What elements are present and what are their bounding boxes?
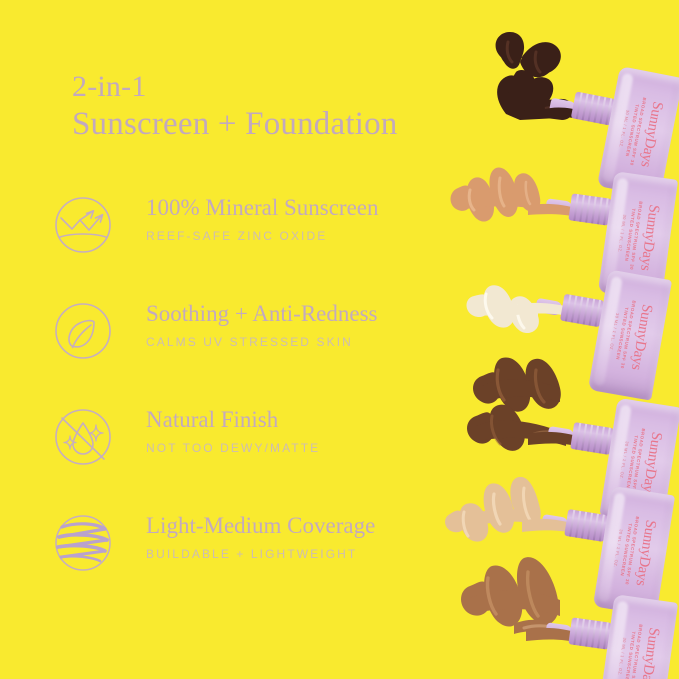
feature-item-mineral-sunscreen: 100% Mineral Sunscreen REEF-SAFE ZINC OX… (50, 188, 470, 294)
leaf-icon (50, 298, 116, 364)
product-feature-graphic: 2-in-1 Sunscreen + Foundation (0, 0, 679, 679)
feature-subtitle: BUILDABLE + LIGHTWEIGHT (146, 547, 476, 561)
tube-neck (568, 193, 611, 225)
page-title: 2-in-1 Sunscreen + Foundation (72, 70, 472, 143)
feature-title: 100% Mineral Sunscreen (146, 194, 476, 222)
feature-item-natural-finish: Natural Finish NOT TOO DEWY/MATTE (50, 400, 470, 506)
product-tube-column: SunnyDays BROAD SPECTRUM SPF 30 TINTED S… (440, 0, 679, 679)
feature-title: Natural Finish (146, 406, 476, 434)
feature-list: 100% Mineral Sunscreen REEF-SAFE ZINC OX… (50, 188, 470, 612)
feature-title: Soothing + Anti-Redness (146, 300, 476, 328)
feature-item-soothing: Soothing + Anti-Redness CALMS UV STRESSE… (50, 294, 470, 400)
uv-deflect-icon (50, 192, 116, 258)
feature-subtitle: NOT TOO DEWY/MATTE (146, 441, 476, 455)
content-column: 2-in-1 Sunscreen + Foundation (0, 0, 470, 679)
product-unit: SunnyDays BROAD SPECTRUM SPF 30 TINTED S… (440, 530, 679, 679)
feature-subtitle: REEF-SAFE ZINC OXIDE (146, 229, 476, 243)
feature-item-coverage: Light-Medium Coverage BUILDABLE + LIGHTW… (50, 506, 470, 612)
no-dewy-droplet-icon (50, 404, 116, 470)
feature-title: Light-Medium Coverage (146, 512, 476, 540)
headline-line-1: 2-in-1 (72, 70, 472, 104)
headline-line-2: Sunscreen + Foundation (72, 106, 472, 143)
tube-neck (568, 617, 611, 649)
coverage-scribble-icon (50, 510, 116, 576)
feature-subtitle: CALMS UV STRESSED SKIN (146, 335, 476, 349)
